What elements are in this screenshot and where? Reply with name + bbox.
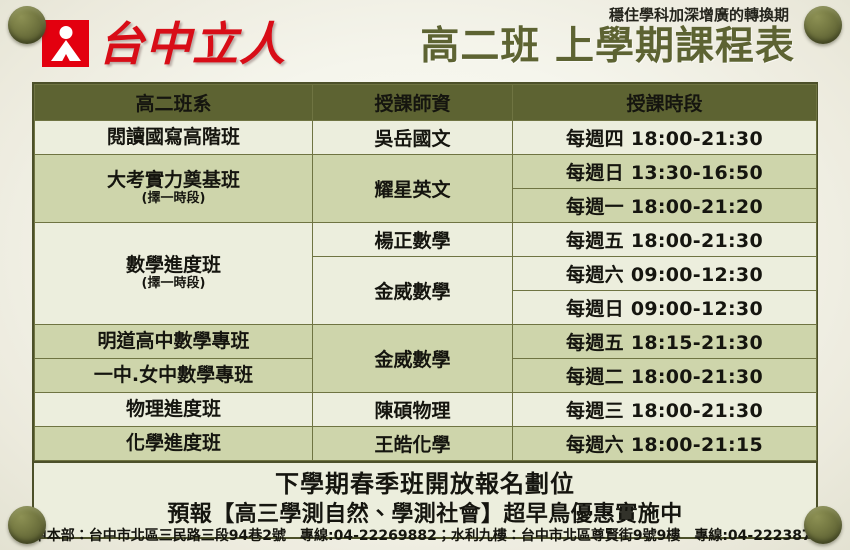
cell-teacher: 陳碩物理 [313,393,513,427]
brand-name: 台中立人 [98,21,286,67]
cell-slot: 每週日 09:00-12:30 [513,291,817,325]
column-header-slot: 授課時段 [513,85,817,121]
cell-course: 明道高中數學專班 [35,325,313,359]
course-note: (擇一時段) [37,277,310,292]
course-schedule-poster: 台中立人 穩住學科加深增廣的轉換期 高二班 上學期課程表 高二班系 授課師資 授… [0,0,850,550]
course-note: (擇一時段) [37,192,310,207]
cell-slot: 每週四 18:00-21:30 [513,121,817,155]
column-header-teacher: 授課師資 [313,85,513,121]
column-header-course: 高二班系 [35,85,313,121]
table-header: 高二班系 授課師資 授課時段 [35,85,817,121]
cell-slot: 每週五 18:00-21:30 [513,223,817,257]
cell-slot: 每週六 09:00-12:30 [513,257,817,291]
cell-slot: 每週一 18:00-21:20 [513,189,817,223]
cell-course: 化學進度班 [35,427,313,461]
course-name: 大考實力奠基班 [107,169,240,191]
table-row[interactable]: 數學進度班 (擇一時段) 楊正數學 每週五 18:00-21:30 [35,223,817,257]
table-row[interactable]: 化學進度班 王皓化學 每週六 18:00-21:15 [35,427,817,461]
logo-head-shape [59,26,72,39]
schedule-table: 高二班系 授課師資 授課時段 閱讀國寫高階班 吳岳國文 每週四 18:00-21… [34,84,817,461]
poster-subtitle: 穩住學科加深增廣的轉換期 [420,4,789,25]
cell-slot: 每週二 18:00-21:30 [513,359,817,393]
corner-pin-bottom-left [8,506,46,544]
cell-slot: 每週六 18:00-21:15 [513,427,817,461]
cell-slot: 每週日 13:30-16:50 [513,155,817,189]
course-name: 數學進度班 [126,254,221,276]
promo-line-1: 下學期春季班開放報名劃位 [38,470,812,499]
cell-course: 數學進度班 (擇一時段) [35,223,313,325]
table-row[interactable]: 明道高中數學專班 金威數學 每週五 18:15-21:30 [35,325,817,359]
cell-teacher: 金威數學 [313,257,513,325]
cell-course: 閱讀國寫高階班 [35,121,313,155]
cell-teacher: 金威數學 [313,325,513,393]
cell-teacher: 吳岳國文 [313,121,513,155]
table-body: 閱讀國寫高階班 吳岳國文 每週四 18:00-21:30 大考實力奠基班 (擇一… [35,121,817,461]
corner-pin-top-right [804,6,842,44]
corner-pin-top-left [8,6,46,44]
person-in-square-logo-icon [42,20,89,67]
schedule-sheet: 高二班系 授課師資 授課時段 閱讀國寫高階班 吳岳國文 每週四 18:00-21… [32,82,818,539]
page-title: 高二班 上學期課程表 [420,26,795,68]
cell-slot: 每週三 18:00-21:30 [513,393,817,427]
cell-course: 物理進度班 [35,393,313,427]
cell-teacher: 楊正數學 [313,223,513,257]
contact-footer: 台中本部：台中市北區三民路三段94巷2號 專線:04-22269882；水利九樓… [0,525,850,545]
title-block: 穩住學科加深增廣的轉換期 高二班 上學期課程表 [420,4,795,68]
cell-course: 一中.女中數學專班 [35,359,313,393]
logo-legs-shape [59,54,73,67]
table-row[interactable]: 物理進度班 陳碩物理 每週三 18:00-21:30 [35,393,817,427]
cell-slot: 每週五 18:15-21:30 [513,325,817,359]
table-row[interactable]: 大考實力奠基班 (擇一時段) 耀星英文 每週日 13:30-16:50 [35,155,817,189]
table-row[interactable]: 閱讀國寫高階班 吳岳國文 每週四 18:00-21:30 [35,121,817,155]
poster-header: 台中立人 穩住學科加深增廣的轉換期 高二班 上學期課程表 [0,0,850,82]
cell-teacher: 耀星英文 [313,155,513,223]
cell-teacher: 王皓化學 [313,427,513,461]
table-header-row: 高二班系 授課師資 授課時段 [35,85,817,121]
cell-course: 大考實力奠基班 (擇一時段) [35,155,313,223]
corner-pin-bottom-right [804,506,842,544]
brand-logo: 台中立人 [42,20,286,67]
